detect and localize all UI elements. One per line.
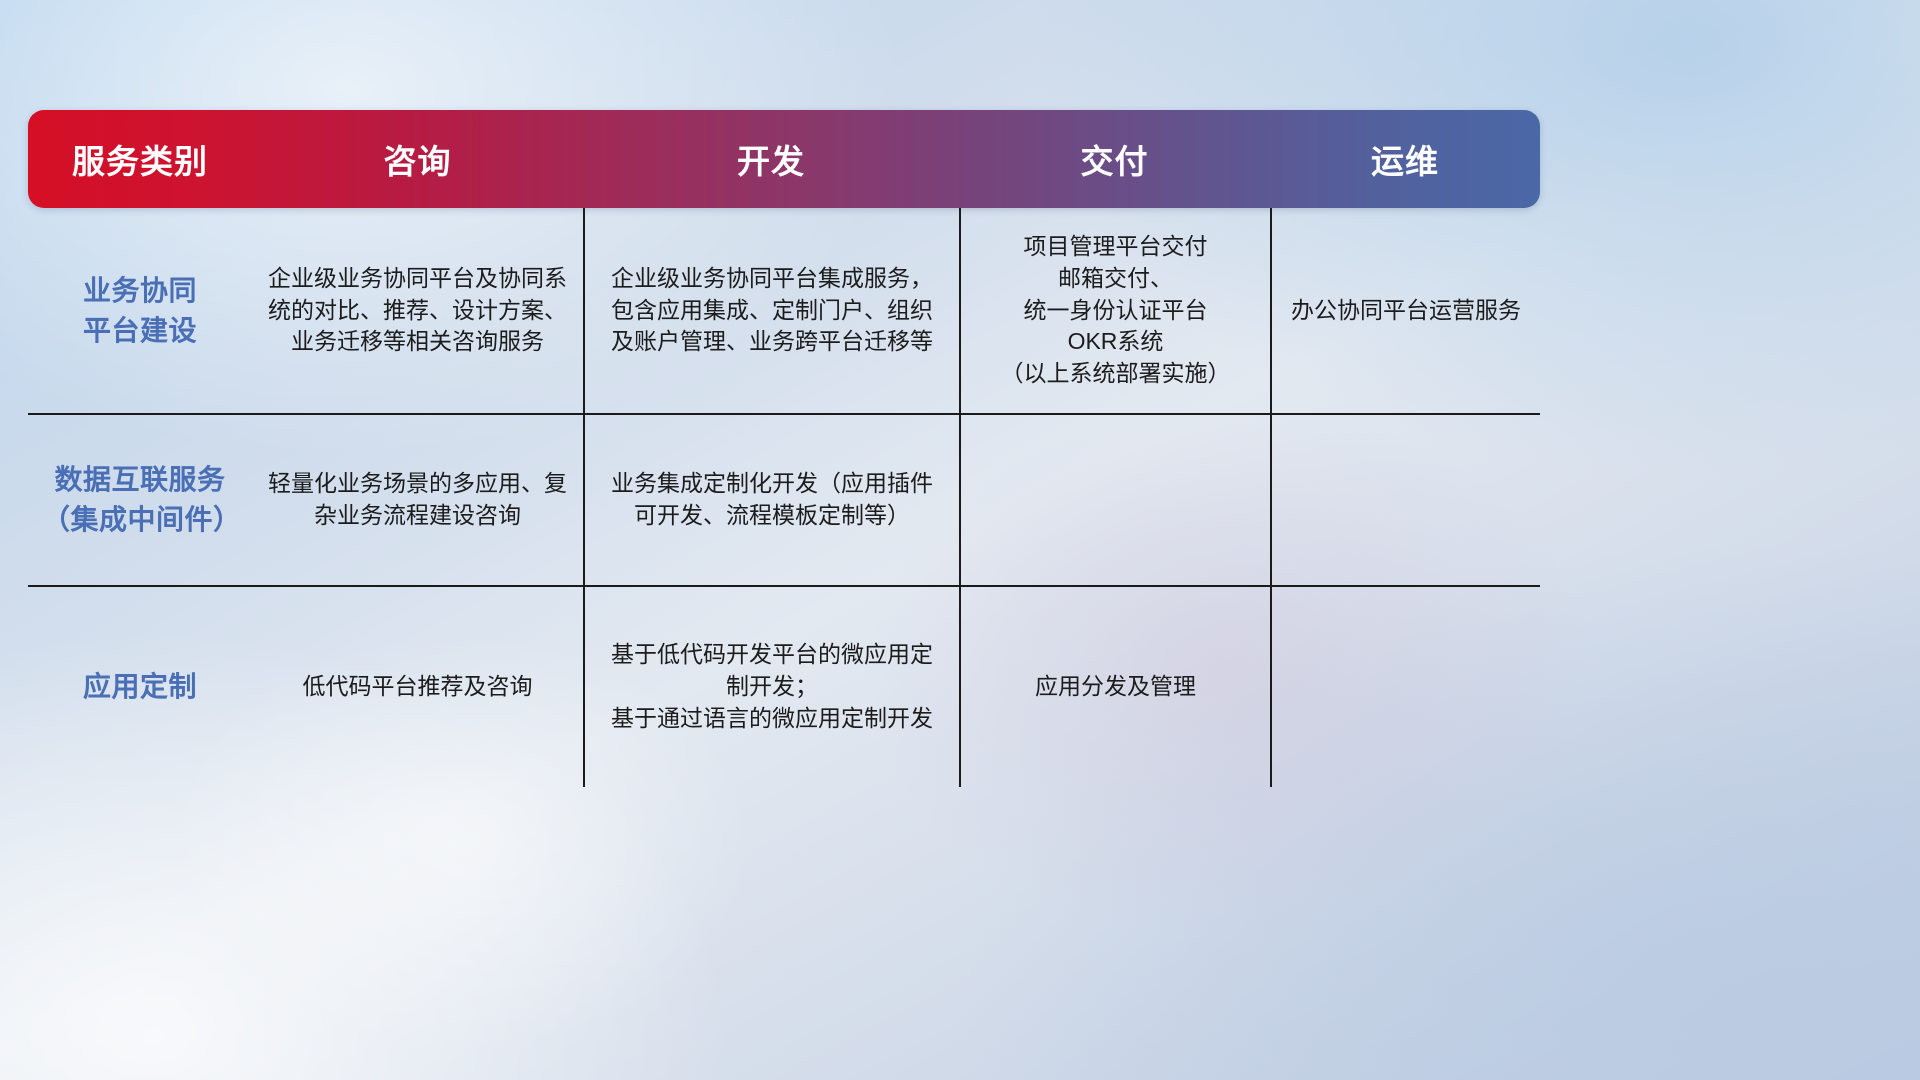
table-cell-development: 业务集成定制化开发（应用插件 可开发、流程模板定制等） [583,415,959,585]
table-cell-delivery: 项目管理平台交付 邮箱交付、 统一身份认证平台 OKR系统 （以上系统部署实施） [959,208,1270,413]
table-header-cell-consulting: 咨询 [252,135,583,183]
row-label: 业务协同 平台建设 [28,208,252,413]
table-cell-consulting: 轻量化业务场景的多应用、复 杂业务流程建设咨询 [252,415,583,585]
row-label: 数据互联服务 （集成中间件） [28,415,252,585]
table-header-cell-delivery: 交付 [959,135,1270,183]
service-matrix-table: 服务类别 咨询 开发 交付 运维 业务协同 平台建设 企业级业务协同平台及协同系… [28,110,1540,787]
table-cell-development: 企业级业务协同平台集成服务， 包含应用集成、定制门户、组织 及账户管理、业务跨平… [583,208,959,413]
table-header-row: 服务类别 咨询 开发 交付 运维 [28,110,1540,208]
table-cell-operations [1270,587,1540,787]
table-header-cell-service-category: 服务类别 [28,135,252,183]
table-cell-consulting: 低代码平台推荐及咨询 [252,587,583,787]
table-row: 应用定制 低代码平台推荐及咨询 基于低代码开发平台的微应用定 制开发； 基于通过… [28,585,1540,787]
table-cell-delivery: 应用分发及管理 [959,587,1270,787]
row-label: 应用定制 [28,587,252,787]
table-row: 数据互联服务 （集成中间件） 轻量化业务场景的多应用、复 杂业务流程建设咨询 业… [28,413,1540,585]
table-body: 业务协同 平台建设 企业级业务协同平台及协同系 统的对比、推荐、设计方案、 业务… [28,208,1540,787]
table-row: 业务协同 平台建设 企业级业务协同平台及协同系 统的对比、推荐、设计方案、 业务… [28,208,1540,413]
table-header-cell-operations: 运维 [1270,135,1540,183]
table-cell-operations: 办公协同平台运营服务 [1270,208,1540,413]
table-cell-operations [1270,415,1540,585]
table-cell-consulting: 企业级业务协同平台及协同系 统的对比、推荐、设计方案、 业务迁移等相关咨询服务 [252,208,583,413]
table-header-cell-development: 开发 [583,135,959,183]
table-cell-development: 基于低代码开发平台的微应用定 制开发； 基于通过语言的微应用定制开发 [583,587,959,787]
table-cell-delivery [959,415,1270,585]
